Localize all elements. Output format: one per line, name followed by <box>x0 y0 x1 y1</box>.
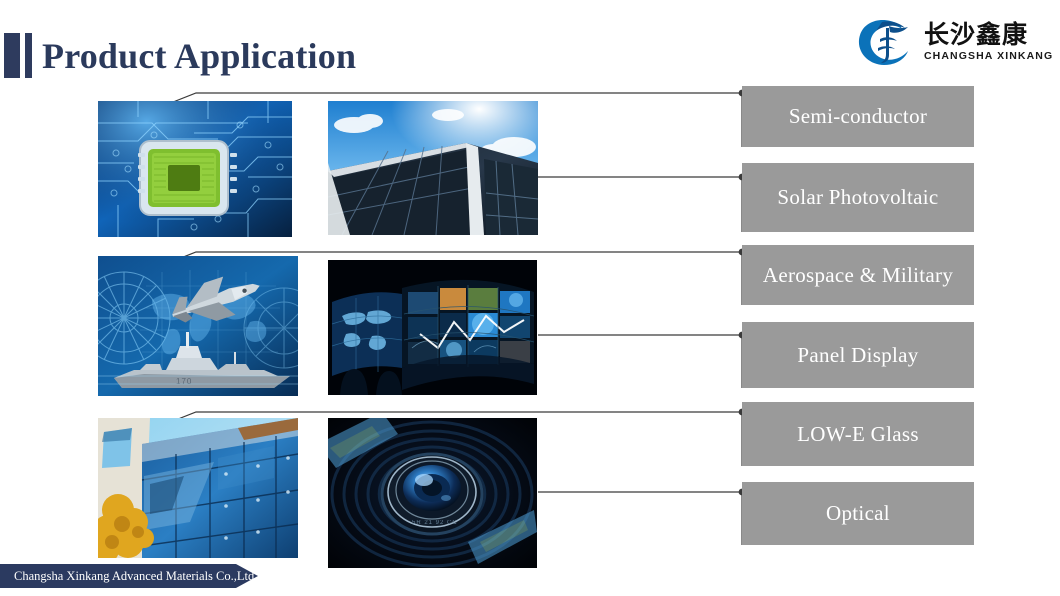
title-accent-bar-thin <box>25 33 32 78</box>
logo-chinese-name: 长沙鑫康 <box>924 23 1053 48</box>
video-wall-photo <box>328 260 537 395</box>
slide-canvas: Product Application 长沙鑫康 CHANGSHA XINKAN… <box>0 0 1060 596</box>
label-solar-photovoltaic[interactable]: Solar Photovoltaic <box>742 163 974 232</box>
label-optical-text: Optical <box>826 501 890 526</box>
lowe-glass-building-photo <box>98 418 298 558</box>
page-title: Product Application <box>42 33 356 78</box>
logo-swoosh-icon <box>856 15 918 69</box>
svg-text:170: 170 <box>176 377 192 386</box>
camera-lens-photo: 5R 21 92 CC <box>328 418 537 568</box>
label-aerospace-military[interactable]: Aerospace & Military <box>742 245 974 305</box>
aerospace-military-photo: 170 <box>98 256 298 396</box>
logo-english-name: CHANGSHA XINKANG <box>924 51 1053 62</box>
logo-wordmark: 长沙鑫康 CHANGSHA XINKANG <box>924 23 1053 62</box>
label-semi-conductor-text: Semi-conductor <box>789 104 927 129</box>
label-low-e-glass-text: LOW-E Glass <box>797 422 919 447</box>
label-solar-photovoltaic-text: Solar Photovoltaic <box>777 185 938 210</box>
semiconductor-chip-photo <box>98 101 292 237</box>
label-low-e-glass[interactable]: LOW-E Glass <box>742 402 974 466</box>
label-aerospace-military-text: Aerospace & Military <box>763 263 953 288</box>
label-semi-conductor[interactable]: Semi-conductor <box>742 86 974 147</box>
solar-panel-photo <box>328 101 538 235</box>
svg-text:5R 21 92 CC: 5R 21 92 CC <box>412 520 458 526</box>
company-logo: 长沙鑫康 CHANGSHA XINKANG <box>856 14 1052 70</box>
label-optical[interactable]: Optical <box>742 482 974 545</box>
footer-banner: Changsha Xinkang Advanced Materials Co.,… <box>0 564 258 588</box>
footer-company-name: Changsha Xinkang Advanced Materials Co.,… <box>14 564 254 588</box>
title-accent-bar-wide <box>4 33 20 78</box>
label-panel-display-text: Panel Display <box>797 343 918 368</box>
label-panel-display[interactable]: Panel Display <box>742 322 974 388</box>
